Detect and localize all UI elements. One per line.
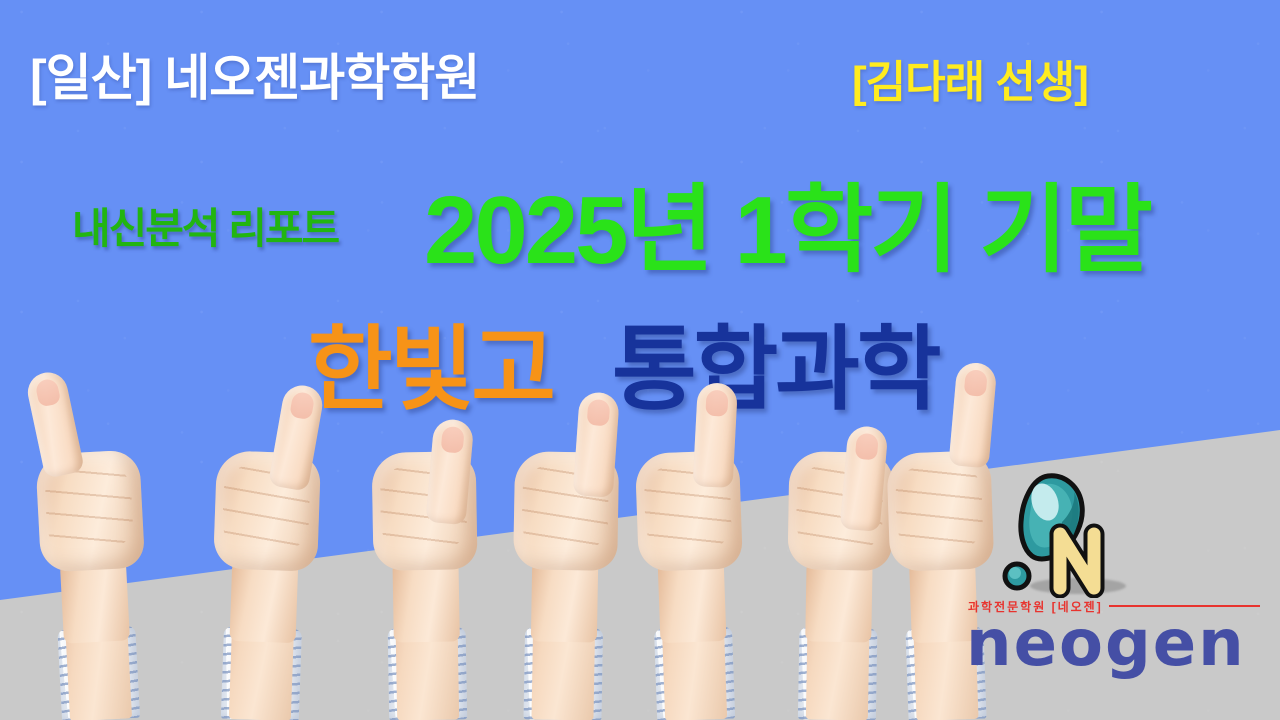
thumbs-up-hand bbox=[10, 406, 176, 720]
thumbnail-canvas: [일산] 네오젠과학학원 [김다래 선생] 내신분석 리포트 2025년 1학기… bbox=[0, 0, 1280, 720]
logo-wordmark: neogen bbox=[966, 612, 1246, 676]
thumbs-up-hand bbox=[185, 417, 345, 720]
thumb bbox=[948, 361, 997, 468]
thumb bbox=[693, 382, 738, 488]
knuckles bbox=[44, 464, 134, 552]
thumb bbox=[24, 369, 85, 479]
neogen-logo: 과학전문학원 [네오젠] neogen bbox=[968, 470, 1260, 685]
neogen-droplet-mark-icon bbox=[990, 470, 1128, 598]
thumbs-up-hand bbox=[354, 464, 498, 720]
thumbs-up-hand bbox=[607, 419, 775, 720]
